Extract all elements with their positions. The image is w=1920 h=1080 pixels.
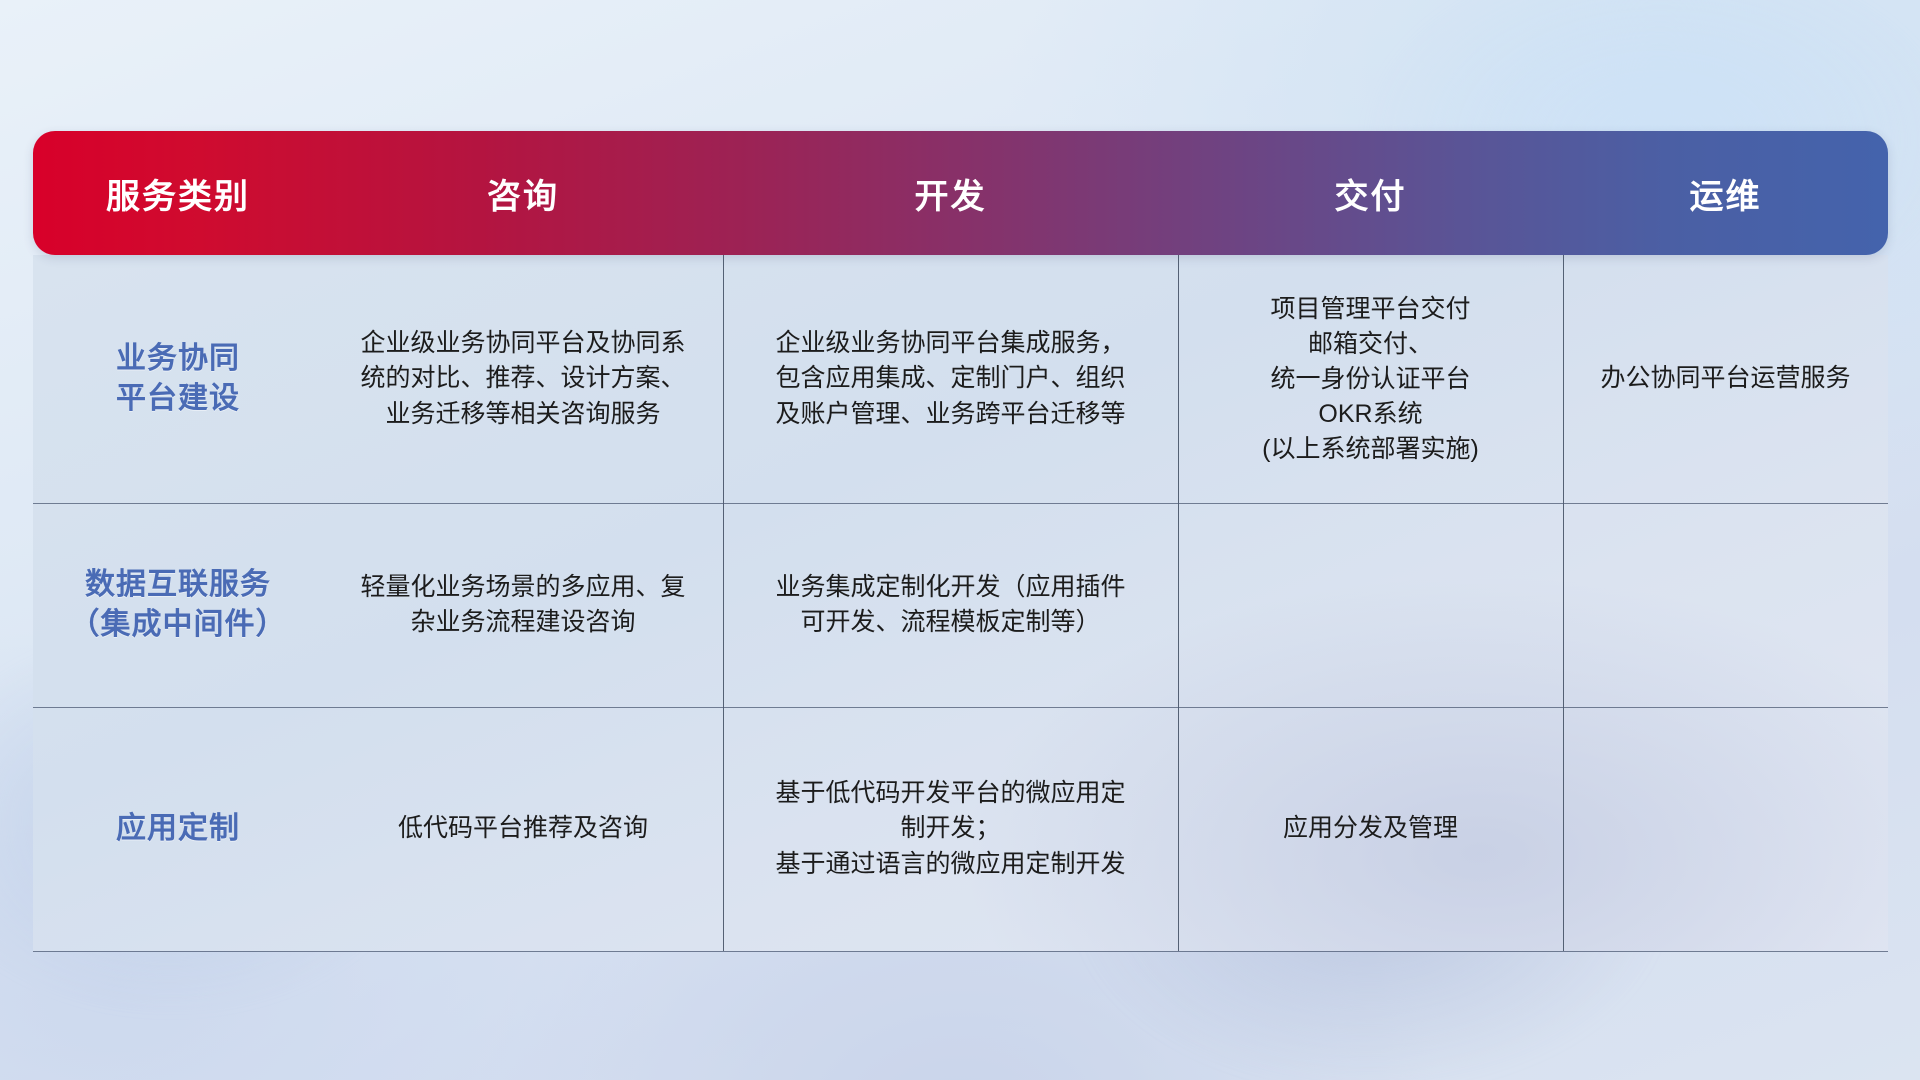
table-header-cell-development: 开发 <box>723 169 1178 218</box>
cell-consulting: 轻量化业务场景的多应用、复 杂业务流程建设咨询 <box>323 503 723 707</box>
cell-consulting: 低代码平台推荐及咨询 <box>323 707 723 951</box>
service-category-table: 服务类别 咨询 开发 交付 运维 业务协同 平台建设 企业级业务协同平台及协同系… <box>33 131 1888 951</box>
row-label-text: 业务协同 平台建设 <box>116 339 240 420</box>
cell-operations <box>1563 707 1888 951</box>
row-label-cell: 业务协同 平台建设 <box>33 255 323 503</box>
row-label-text: 应用定制 <box>116 809 240 850</box>
row-label-cell: 数据互联服务 （集成中间件） <box>33 503 323 707</box>
row-label-text: 数据互联服务 （集成中间件） <box>70 565 287 646</box>
table-row: 业务协同 平台建设 企业级业务协同平台及协同系 统的对比、推荐、设计方案、 业务… <box>33 255 1888 503</box>
cell-text: 应用分发及管理 <box>1283 811 1458 847</box>
cell-development: 企业级业务协同平台集成服务， 包含应用集成、定制门户、组织 及账户管理、业务跨平… <box>723 255 1178 503</box>
cell-delivery: 项目管理平台交付 邮箱交付、 统一身份认证平台 OKR系统 (以上系统部署实施) <box>1178 255 1563 503</box>
table-row: 应用定制 低代码平台推荐及咨询 基于低代码开发平台的微应用定 制开发； 基于通过… <box>33 707 1888 951</box>
row-separator <box>33 707 1888 708</box>
cell-text: 低代码平台推荐及咨询 <box>398 811 648 847</box>
cell-operations <box>1563 503 1888 707</box>
cell-text: 企业级业务协同平台集成服务， 包含应用集成、定制门户、组织 及账户管理、业务跨平… <box>775 326 1125 433</box>
cell-text: 办公协同平台运营服务 <box>1600 361 1850 397</box>
cell-delivery <box>1178 503 1563 707</box>
row-separator <box>33 951 1888 952</box>
table-header-cell-operations: 运维 <box>1563 169 1888 218</box>
cell-delivery: 应用分发及管理 <box>1178 707 1563 951</box>
table-header-cell-category: 服务类别 <box>33 169 323 218</box>
cell-text: 轻量化业务场景的多应用、复 杂业务流程建设咨询 <box>360 570 685 641</box>
cell-operations: 办公协同平台运营服务 <box>1563 255 1888 503</box>
cell-text: 项目管理平台交付 邮箱交付、 统一身份认证平台 OKR系统 (以上系统部署实施) <box>1262 292 1479 467</box>
table-header-cell-consulting: 咨询 <box>323 169 723 218</box>
cell-text: 基于低代码开发平台的微应用定 制开发； 基于通过语言的微应用定制开发 <box>775 776 1125 883</box>
table-row: 数据互联服务 （集成中间件） 轻量化业务场景的多应用、复 杂业务流程建设咨询 业… <box>33 503 1888 707</box>
cell-development: 基于低代码开发平台的微应用定 制开发； 基于通过语言的微应用定制开发 <box>723 707 1178 951</box>
cell-consulting: 企业级业务协同平台及协同系 统的对比、推荐、设计方案、 业务迁移等相关咨询服务 <box>323 255 723 503</box>
row-separator <box>33 503 1888 504</box>
table-header-row: 服务类别 咨询 开发 交付 运维 <box>33 131 1888 255</box>
cell-development: 业务集成定制化开发（应用插件 可开发、流程模板定制等） <box>723 503 1178 707</box>
row-label-cell: 应用定制 <box>33 707 323 951</box>
table-header-cell-delivery: 交付 <box>1178 169 1563 218</box>
cell-text: 企业级业务协同平台及协同系 统的对比、推荐、设计方案、 业务迁移等相关咨询服务 <box>360 326 685 433</box>
cell-text: 业务集成定制化开发（应用插件 可开发、流程模板定制等） <box>775 570 1125 641</box>
